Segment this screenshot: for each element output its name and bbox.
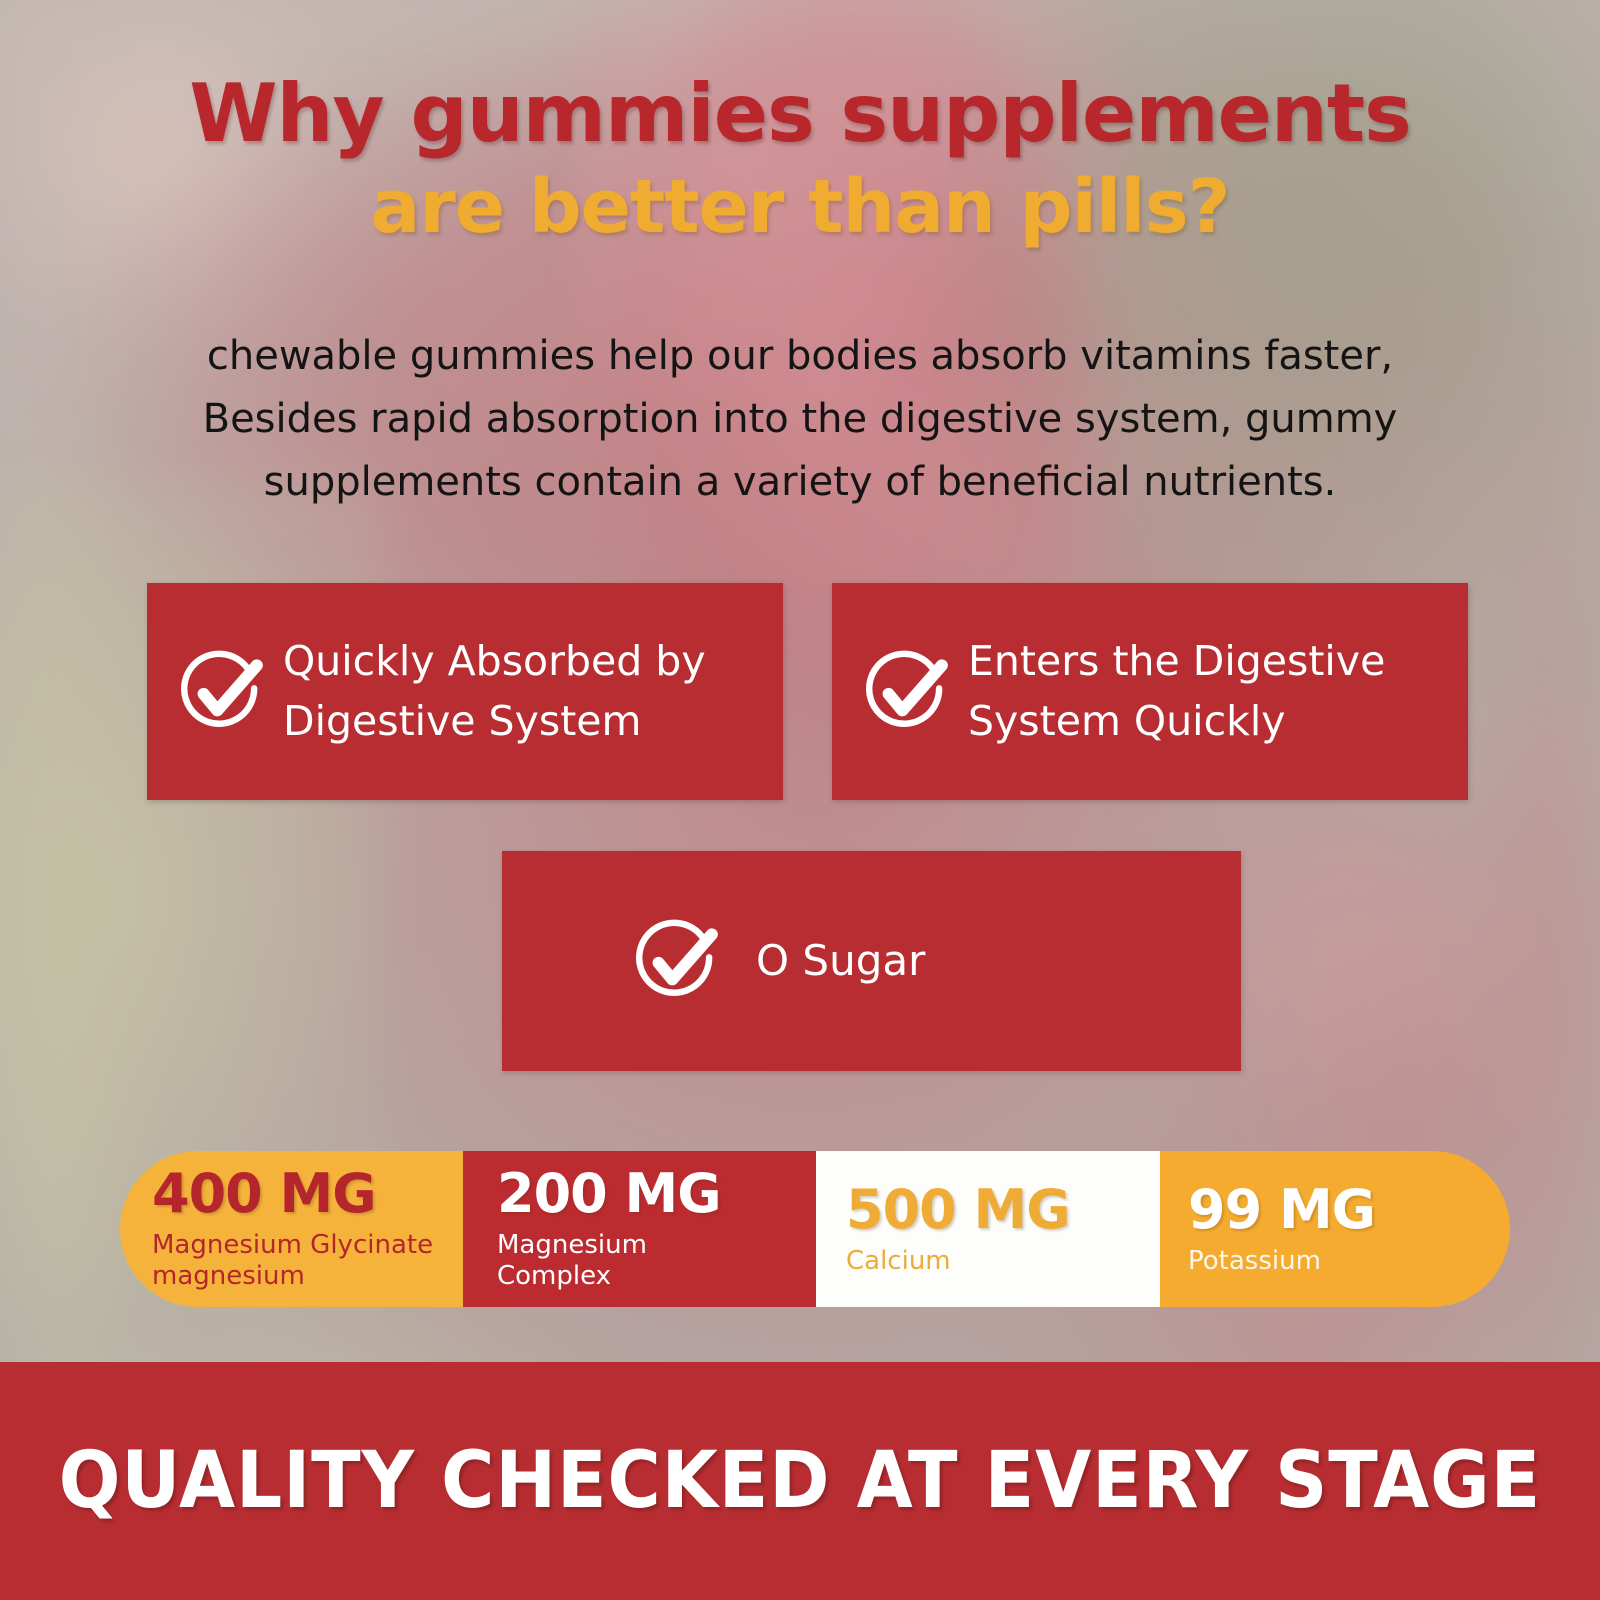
benefit-card-text: O Sugar: [738, 931, 925, 992]
benefit-card-zero-sugar: O Sugar: [502, 851, 1241, 1071]
quality-banner: QUALITY CHECKED AT EVERY STAGE: [0, 1362, 1600, 1600]
dosage-amount: 200 MG: [497, 1166, 816, 1221]
quality-banner-text: QUALITY CHECKED AT EVERY STAGE: [59, 1436, 1541, 1526]
intro-line-1: chewable gummies help our bodies absorb …: [170, 325, 1430, 388]
page-title: Why gummies supplements are better than …: [0, 74, 1600, 244]
dosage-label-line-1: Calcium: [846, 1246, 1160, 1277]
dosage-label: Potassium: [1188, 1246, 1510, 1277]
benefit-card-line-1: O Sugar: [756, 931, 925, 992]
dosage-segment-magnesium-complex: 200 MG Magnesium Complex: [463, 1151, 816, 1307]
dosage-amount: 400 MG: [152, 1166, 463, 1221]
dosage-label-line-1: Potassium: [1188, 1246, 1510, 1277]
dosage-label: Magnesium Glycinate magnesium: [152, 1230, 463, 1291]
benefit-card-text: Quickly Absorbed by Digestive System: [283, 632, 706, 751]
benefit-card-line-1: Quickly Absorbed by: [283, 632, 706, 691]
page-title-line-2: are better than pills?: [0, 170, 1600, 244]
dosage-label: Magnesium Complex: [497, 1230, 816, 1291]
dosage-bar: 400 MG Magnesium Glycinate magnesium 200…: [120, 1151, 1510, 1307]
dosage-label-line-1: Magnesium: [497, 1230, 816, 1261]
dosage-segment-magnesium-glycinate: 400 MG Magnesium Glycinate magnesium: [120, 1151, 463, 1307]
benefit-card-text: Enters the Digestive System Quickly: [968, 632, 1385, 751]
poster-content: Why gummies supplements are better than …: [0, 0, 1600, 1600]
intro-paragraph: chewable gummies help our bodies absorb …: [170, 325, 1430, 515]
page-title-line-1: Why gummies supplements: [0, 74, 1600, 154]
benefit-card-line-2: Digestive System: [283, 692, 706, 751]
dosage-amount: 99 MG: [1188, 1182, 1510, 1237]
check-circle-icon: [630, 915, 722, 1007]
dosage-amount: 500 MG: [846, 1182, 1160, 1237]
dosage-label-line-2: Complex: [497, 1261, 816, 1292]
benefit-card-line-2: System Quickly: [968, 692, 1385, 751]
dosage-segment-potassium: 99 MG Potassium: [1160, 1151, 1510, 1307]
supplement-infographic-poster: Why gummies supplements are better than …: [0, 0, 1600, 1600]
intro-line-2: Besides rapid absorption into the digest…: [170, 388, 1430, 451]
benefit-card-line-1: Enters the Digestive: [968, 632, 1385, 691]
dosage-label: Calcium: [846, 1246, 1160, 1277]
intro-line-3: supplements contain a variety of benefic…: [170, 451, 1430, 514]
dosage-label-line-1: Magnesium Glycinate: [152, 1230, 463, 1261]
check-circle-icon: [175, 646, 267, 738]
benefit-card-quickly-absorbed: Quickly Absorbed by Digestive System: [147, 583, 783, 800]
dosage-label-line-2: magnesium: [152, 1261, 463, 1292]
check-circle-icon: [860, 646, 952, 738]
dosage-segment-calcium: 500 MG Calcium: [816, 1151, 1160, 1307]
benefit-card-enters-digestive: Enters the Digestive System Quickly: [832, 583, 1468, 800]
